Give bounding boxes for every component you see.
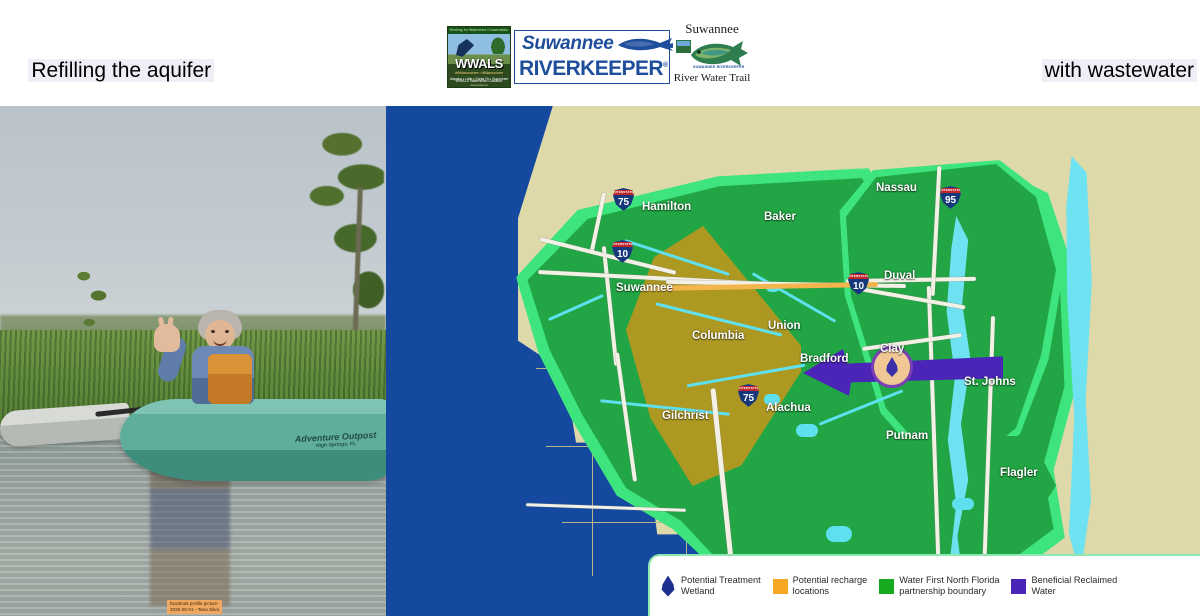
photo-reflection (150, 463, 230, 606)
county-label-bradford: Bradford (800, 353, 849, 365)
legend-item-treatment-wetland: Potential Treatment Wetland (660, 575, 761, 597)
county-label-hamilton: Hamilton (642, 201, 691, 213)
shield-number: 75 (618, 197, 629, 208)
shield-cap: INTERSTATE (738, 386, 759, 391)
water-first-north-florida-map[interactable]: INTERSTATE75 INTERSTATE10 INTERSTATE95 I… (386, 106, 1200, 616)
county-label-gilchrist: Gilchrist (662, 410, 709, 422)
suwannee-river-water-trail-logo[interactable]: Suwannee SUWANNEE RIVERKEEPER River Wate… (673, 21, 751, 93)
legend-label-reclaimed-water: Beneficial Reclaimed Water (1031, 575, 1117, 597)
page-header: Refilling the aquifer is a problem (WFNF… (0, 0, 1200, 106)
shield-cap: INTERSTATE (848, 274, 869, 279)
water-trail-chip-icon (676, 40, 691, 53)
tree-icon (490, 36, 506, 54)
riverkeeper-suwannee-text: Suwannee (522, 34, 614, 54)
riverkeeper-line1-row: Suwannee (516, 34, 668, 54)
legend-label-recharge-locations: Potential recharge locations (793, 575, 868, 597)
photo-kayak-decal: Adventure OutpostHigh Springs, FL (295, 430, 377, 450)
legend-item-partnership-boundary: Water First North Florida partnership bo… (879, 575, 999, 597)
water-trail-top-text: Suwannee (685, 21, 738, 36)
map-lake (952, 498, 974, 510)
shield-number: 95 (945, 195, 956, 206)
registered-mark: ® (663, 62, 668, 69)
photo-kayaker (178, 310, 268, 422)
photo-kayaker-eye-left (211, 330, 215, 333)
water-trail-ribbon-text: SUWANNEE RIVERKEEPER (693, 65, 745, 69)
photo-credit-caption: facebook profile picture 2026-05-01 --Ta… (167, 600, 222, 614)
legend-item-recharge-locations: Potential recharge locations (773, 575, 868, 597)
purple-swatch-icon (1011, 579, 1026, 594)
map-legend: Potential Treatment Wetland Potential re… (648, 554, 1200, 616)
county-label-clay: Clay (880, 343, 904, 355)
map-lake (826, 526, 852, 542)
shield-cap: INTERSTATE (940, 188, 961, 193)
water-drop-icon (660, 576, 676, 597)
shield-number: 10 (617, 249, 628, 260)
headline-right-line1: with wastewater (1042, 59, 1197, 82)
photo-tree-trunk (352, 187, 363, 351)
water-drop-icon (885, 357, 900, 377)
water-trail-bottom-text: River Water Trail (674, 72, 751, 85)
photo-kayaker-life-vest (208, 354, 252, 404)
shield-number: 10 (853, 281, 864, 292)
orange-swatch-icon (773, 579, 788, 594)
suwannee-riverkeeper-logo[interactable]: Suwannee RIVERKEEPER® (514, 30, 670, 84)
legend-label-partnership-boundary: Water First North Florida partnership bo… (899, 575, 999, 597)
shield-cap: INTERSTATE (613, 190, 634, 195)
map-lake (796, 424, 818, 437)
county-label-union: Union (768, 320, 801, 332)
legend-label-treatment-wetland: Potential Treatment Wetland (681, 575, 761, 597)
kayak-photo: Adventure OutpostHigh Springs, FL facebo… (0, 106, 386, 616)
county-label-alachua: Alachua (766, 402, 811, 414)
shield-number: 75 (743, 393, 754, 404)
photo-kayaker-eye-right (225, 330, 229, 333)
bass-fish-icon: SUWANNEE RIVERKEEPER (675, 37, 749, 71)
legend-item-reclaimed-water: Beneficial Reclaimed Water (1011, 575, 1117, 597)
green-swatch-icon (879, 579, 894, 594)
wwals-footer-url: www.wwals.net (448, 84, 510, 87)
wwals-top-banner: Working for Watershed Conservation (448, 27, 510, 34)
county-label-columbia: Columbia (692, 330, 744, 342)
county-label-putnam: Putnam (886, 430, 928, 442)
riverkeeper-wordmark: RIVERKEEPER® (519, 54, 665, 80)
county-label-duval: Duval (884, 270, 915, 282)
headline-left-line1: Refilling the aquifer (28, 59, 214, 82)
shield-cap: INTERSTATE (612, 242, 633, 247)
photo-kayaker-waving-hand (154, 324, 180, 352)
logo-band: Working for Watershed Conservation WWALS… (447, 19, 753, 95)
county-label-st-johns: St. Johns (964, 376, 1016, 388)
riverkeeper-wordmark-text: RIVERKEEPER (519, 57, 663, 80)
wwals-wordmark: WWALS (448, 56, 510, 71)
county-label-flagler: Flagler (1000, 467, 1038, 479)
county-label-suwannee: Suwannee (616, 282, 673, 294)
county-label-nassau: Nassau (876, 182, 917, 194)
wwals-logo[interactable]: Working for Watershed Conservation WWALS… (447, 26, 511, 88)
county-label-baker: Baker (764, 211, 796, 223)
photo-tree-right (274, 116, 384, 351)
